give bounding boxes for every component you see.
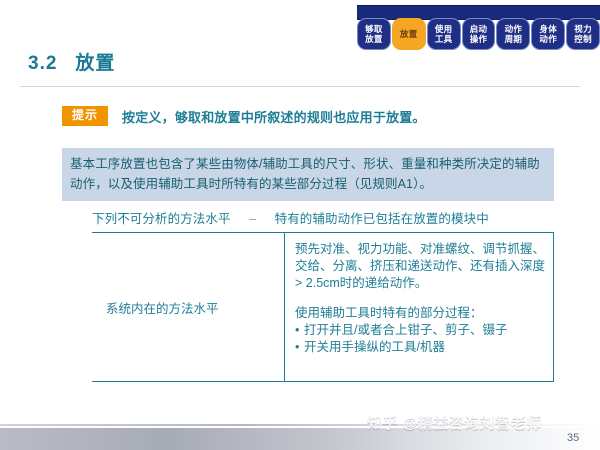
list-item-label: 开关用手操纵的工具/机器 (304, 340, 445, 354)
nav-tab-dongzuo-zhouqi[interactable]: 动作 周期 (496, 18, 530, 50)
highlight-paragraph: 基本工序放置也包含了某些由物体/辅助工具的尺寸、形状、重量和种类所决定的辅助动作… (62, 148, 554, 201)
nav-tab-gouqu-fangzhi[interactable]: 够取 放置 (357, 18, 391, 50)
nav-tab-shili-kongzhi[interactable]: 视力 控制 (566, 18, 600, 50)
page-title: 3.2放置 (28, 48, 115, 75)
nav-tab-label-line1: 视力 (574, 24, 592, 34)
table-cell-label: 系统内在的方法水平 (92, 233, 284, 381)
nav-tab-label-line2: 工具 (435, 34, 453, 44)
nav-tab-shenti-dongzuo[interactable]: 身体 动作 (531, 18, 565, 50)
tip-text: 按定义，够取和放置中所叙述的规则也应用于放置。 (122, 107, 426, 126)
nav-tab-label-line2: 周期 (505, 34, 523, 44)
cell-bullet-list: •打开并且/或者合上钳子、剪子、镊子 •开关用手操纵的工具/机器 (295, 322, 547, 356)
tip-row: 提示 按定义，够取和放置中所叙述的规则也应用于放置。 (62, 106, 426, 126)
bullet-icon: • (295, 339, 304, 356)
watermark: 知乎 @精益咨询刘智老师 (367, 412, 542, 433)
nav-tab-label-line1: 动作 (505, 24, 523, 34)
list-item: •开关用手操纵的工具/机器 (295, 339, 547, 356)
table-cell-content: 预先对准、视力功能、对准螺纹、调节抓握、交给、分离、挤压和递送动作、还有插入深度… (284, 233, 554, 381)
section-title-text: 放置 (75, 53, 115, 74)
table-header-right: 特有的辅助动作已包括在放置的模块中 (275, 208, 489, 227)
nav-tab-fangzhi[interactable]: 放置 (392, 18, 426, 50)
nav-tab-label-line1: 放置 (400, 29, 418, 39)
nav-tab-label-line2: 控制 (574, 34, 592, 44)
title-divider (20, 86, 580, 87)
nav-tab-label-line1: 启动 (470, 24, 488, 34)
nav-tab-label-line2: 动作 (539, 34, 557, 44)
nav-tabs: 够取 放置 放置 使用 工具 启动 操作 动作 周期 身体 动作 视力 控制 (357, 18, 600, 50)
nav-tab-label-line1: 使用 (435, 24, 453, 34)
methods-table: 系统内在的方法水平 预先对准、视力功能、对准螺纹、调节抓握、交给、分离、挤压和递… (92, 232, 554, 382)
nav-tab-label-line2: 操作 (470, 34, 488, 44)
nav-tab-label-line2: 放置 (365, 34, 383, 44)
list-item-label: 打开并且/或者合上钳子、剪子、镊子 (304, 323, 507, 337)
table-header-left: 下列不可分析的方法水平 (92, 208, 231, 227)
list-item: •打开并且/或者合上钳子、剪子、镊子 (295, 322, 547, 339)
cell-sub-header: 使用辅助工具时特有的部分过程： (295, 305, 547, 322)
slide-canvas: 够取 放置 放置 使用 工具 启动 操作 动作 周期 身体 动作 视力 控制 3… (0, 0, 600, 450)
nav-tab-label-line1: 身体 (539, 24, 557, 34)
page-number: 35 (567, 432, 579, 444)
table-header-dash: – (231, 212, 275, 226)
nav-tab-qidong-caozuo[interactable]: 启动 操作 (462, 18, 496, 50)
cell-paragraph: 预先对准、视力功能、对准螺纹、调节抓握、交给、分离、挤压和递送动作、还有插入深度… (295, 241, 547, 292)
tip-badge: 提示 (62, 106, 108, 126)
nav-tab-label-line1: 够取 (365, 24, 383, 34)
cell-spacer (295, 292, 547, 305)
bullet-icon: • (295, 322, 304, 339)
nav-tab-shiyong-gongju[interactable]: 使用 工具 (427, 18, 461, 50)
section-number: 3.2 (28, 53, 57, 74)
table-header: 下列不可分析的方法水平–特有的辅助动作已包括在放置的模块中 (92, 208, 554, 227)
